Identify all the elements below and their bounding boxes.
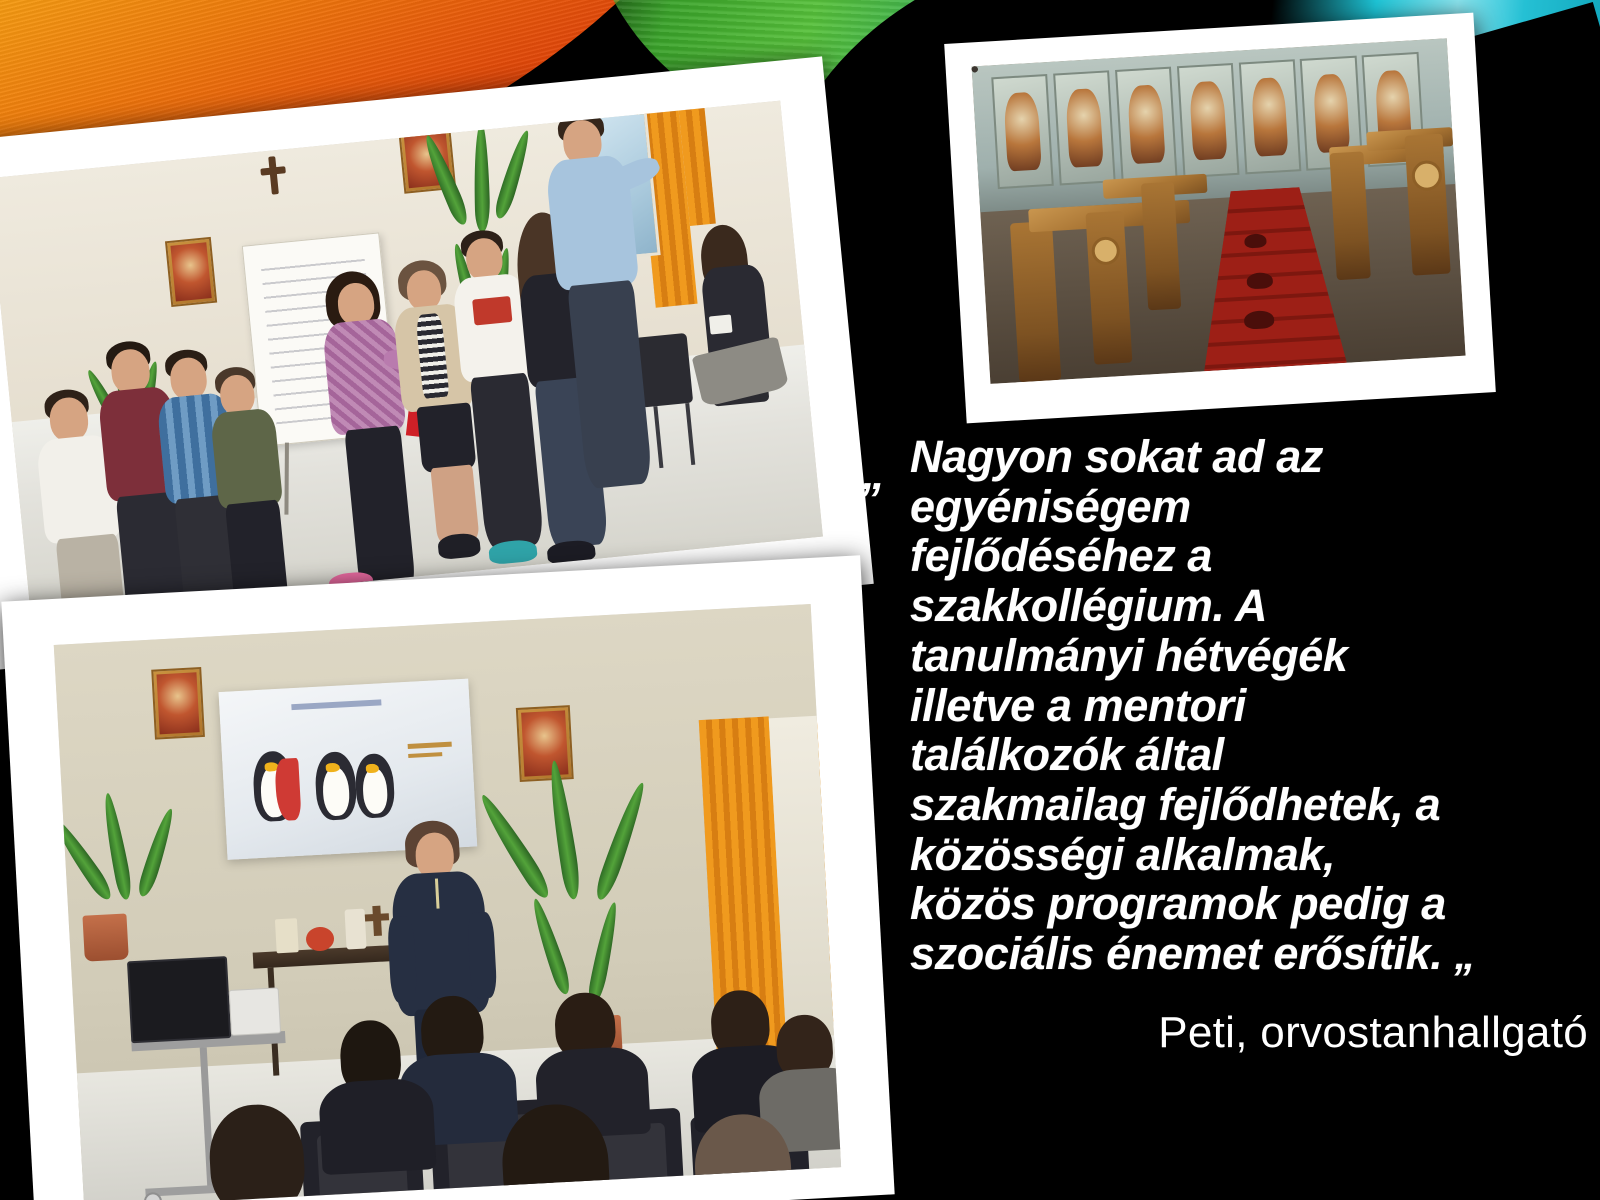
plant-pot-left bbox=[82, 913, 128, 961]
printer bbox=[229, 987, 281, 1036]
scene-lecture-room bbox=[54, 604, 841, 1200]
wall-icon-left bbox=[151, 667, 205, 740]
wall-icon-left bbox=[165, 237, 217, 307]
statue bbox=[344, 909, 366, 950]
icon-panel bbox=[1115, 66, 1178, 181]
quote-close-mark: „ bbox=[1442, 931, 1475, 978]
phone-in-hand bbox=[709, 314, 733, 334]
candle bbox=[275, 918, 299, 953]
scene-workshop-room bbox=[0, 101, 823, 615]
photo-image-lecture bbox=[54, 604, 841, 1200]
penguin-illustration-mid bbox=[314, 751, 358, 821]
slide-title-line bbox=[291, 699, 381, 710]
iconostasis-wall bbox=[972, 38, 1456, 212]
audience-shoulders bbox=[318, 1077, 437, 1175]
icon-panel bbox=[1053, 70, 1116, 185]
tshirt-print bbox=[472, 296, 512, 326]
presentation-slide: „ Nagyon sokat ad az egyéniségem fejlődé… bbox=[0, 0, 1600, 1200]
quote-block: „ Nagyon sokat ad az egyéniségem fejlődé… bbox=[862, 432, 1588, 979]
icon-panel bbox=[991, 74, 1054, 189]
carpet-motif bbox=[1246, 272, 1273, 290]
photo-image-workshop bbox=[0, 101, 823, 615]
scene-church-interior bbox=[972, 38, 1466, 384]
cross-bar bbox=[365, 913, 389, 921]
photo-frame-lecture bbox=[1, 555, 894, 1200]
flipchart-leg bbox=[284, 443, 289, 515]
slide-label-line bbox=[408, 742, 452, 749]
torso bbox=[322, 317, 407, 436]
photo-frame-church bbox=[944, 13, 1496, 424]
torso bbox=[210, 408, 283, 510]
quote-attribution: Peti, orvostanhallgató bbox=[862, 1008, 1600, 1058]
legs bbox=[430, 464, 479, 544]
quote-text-content: Nagyon sokat ad az egyéniségem fejlődésé… bbox=[910, 431, 1446, 979]
quote-text: Nagyon sokat ad az egyéniségem fejlődésé… bbox=[862, 432, 1588, 979]
penguin-illustration-right bbox=[354, 753, 395, 819]
photo-image-church bbox=[972, 38, 1466, 384]
slide-label-line bbox=[408, 752, 442, 758]
skirt bbox=[416, 402, 476, 473]
wall-icon-right bbox=[516, 705, 574, 782]
carpet-motif bbox=[1244, 310, 1275, 330]
icon-panel bbox=[1238, 59, 1301, 174]
icon-panel bbox=[1177, 63, 1240, 178]
laptop bbox=[127, 956, 231, 1043]
